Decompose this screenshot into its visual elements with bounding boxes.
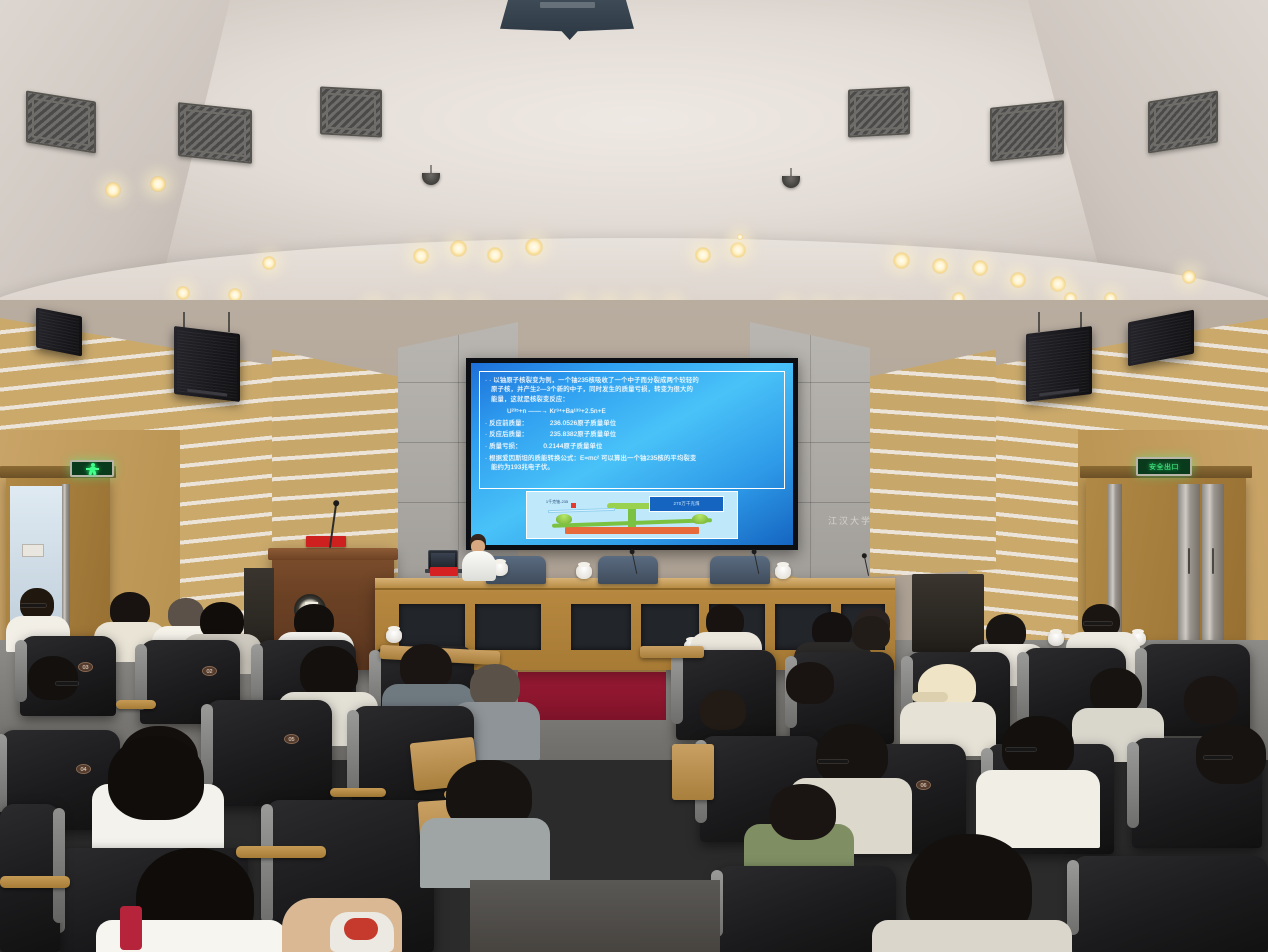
audience-shoulders — [872, 920, 1072, 952]
head-table-nameplate — [430, 567, 458, 576]
ceiling-vent — [178, 102, 252, 164]
mass-before-label: · 反应前质量： — [485, 420, 528, 427]
mass-after-value: 235.8382原子质量单位 — [550, 431, 616, 438]
armrest — [116, 700, 156, 709]
seat-edge — [671, 654, 683, 724]
ceiling-downlight — [893, 252, 910, 269]
balance-pan-left — [556, 514, 572, 524]
audience-head — [852, 616, 890, 650]
audience-head — [28, 656, 78, 700]
slide-einstein-1: · 根据爱因斯坦的质能转换公式：E=mc² 可以算出一个铀235核的平均裂变 — [485, 454, 779, 463]
baseball-cap-brim — [912, 692, 948, 702]
speaker-rod — [1038, 312, 1040, 332]
mass-before-value: 236.0526原子质量单位 — [550, 420, 616, 427]
seat-number-badge: 05 — [284, 734, 299, 744]
side-wall-dark-right — [912, 574, 984, 652]
seat-edge — [1067, 860, 1079, 935]
projection-screen: · 以铀原子核裂变为例，一个铀235核吸收了一个中子而分裂成两个较轻的 原子核，… — [471, 363, 793, 545]
foreground-shoe-accent — [344, 918, 378, 940]
ceiling-downlight — [737, 234, 743, 240]
slide-text-box: · 以铀原子核裂变为例，一个铀235核吸收了一个中子而分裂成两个较轻的 原子核，… — [479, 371, 785, 489]
camera-stem — [430, 165, 432, 173]
mass-defect-value: 0.2144原子质量单位 — [543, 443, 602, 450]
stage-red-carpet — [518, 668, 666, 720]
podium-top — [268, 548, 398, 560]
ceiling-downlight — [1010, 272, 1026, 288]
slide-balance-figure: 1千克铀-235 270万千克煤 — [526, 491, 738, 539]
audience-head — [816, 724, 888, 786]
loudspeaker-right — [1026, 326, 1092, 402]
armrest — [0, 876, 70, 888]
ceiling-vent — [1148, 90, 1218, 153]
balance-pan-right — [692, 514, 708, 524]
mass-after-label: · 反应后质量： — [485, 431, 528, 438]
ceiling-downlight — [730, 242, 746, 258]
ceiling-downlight — [262, 256, 276, 270]
eyeglasses — [1006, 748, 1036, 751]
slide-einstein-2: 能约为193兆电子伏。 — [485, 463, 779, 472]
ceiling-vent — [990, 100, 1064, 162]
auditorium-photo: 江汉大学 · 以铀原子核裂变为例，一个铀235核吸收了一个中子而分裂成两个较轻的… — [0, 0, 1268, 952]
eyeglasses — [20, 604, 46, 607]
flip-desk[interactable] — [672, 744, 714, 800]
ceiling-downlight — [695, 247, 711, 263]
figure-caption-left: 1千克铀-235 — [546, 499, 568, 505]
balance-base — [565, 527, 699, 534]
slide-line-2: 原子核，并产生2—3个新的中子，同时发生的质量亏损，转变为很大的 — [485, 385, 779, 394]
figure-caption-right: 270万千克煤 — [649, 496, 725, 512]
theater-seat[interactable] — [1072, 856, 1268, 952]
armrest — [236, 846, 326, 858]
ceiling-downlight — [1050, 276, 1066, 292]
ceiling-downlight — [1182, 270, 1196, 284]
ceiling-downlight — [487, 247, 503, 263]
balance-tray — [548, 508, 615, 513]
aisle-floor — [470, 880, 720, 952]
slide-equation: U²³⁵+n ——→ Kr⁹⁴+Ba¹³⁹+2.5n+E — [485, 407, 779, 416]
presenter-shirt — [462, 551, 496, 581]
corridor-wall-sign — [22, 544, 44, 557]
seat-edge — [1127, 742, 1139, 828]
table-panel — [571, 604, 631, 650]
door-handle-right[interactable] — [1212, 548, 1214, 574]
slide-line-3: 能量，这就是核裂变反应： — [485, 395, 779, 404]
audience-head — [1196, 724, 1266, 784]
exit-sign-left — [70, 460, 114, 477]
ceiling-downlight — [450, 240, 467, 257]
eyeglasses — [56, 682, 78, 685]
audience-head — [700, 690, 746, 730]
audience-head — [1184, 676, 1238, 724]
seat-edge — [347, 710, 359, 793]
audience-head — [108, 736, 204, 820]
collar-stripe — [120, 906, 142, 950]
tea-cup — [775, 565, 791, 579]
tea-cup — [1048, 632, 1064, 646]
loudspeaker-left — [174, 326, 240, 402]
ceiling-downlight — [413, 248, 429, 264]
eyeglasses — [818, 760, 848, 763]
eyeglasses — [1204, 756, 1232, 759]
laptop-screen — [431, 553, 455, 567]
presenter — [462, 534, 496, 580]
seat-number-badge: 02 — [202, 666, 217, 676]
podium-nameplate — [306, 536, 346, 547]
table-panel — [399, 604, 465, 650]
theater-seat[interactable] — [716, 866, 896, 952]
tea-cup — [576, 565, 592, 579]
seat-edge — [15, 640, 27, 702]
exit-sign-right: 安全出口 — [1136, 457, 1192, 476]
seat-edge — [53, 808, 65, 923]
ceiling-downlight — [150, 176, 166, 192]
mass-defect-label: · 质量亏损： — [485, 443, 522, 450]
ceiling-vent — [848, 86, 910, 137]
tea-cup — [386, 629, 402, 643]
slide-line-1: · 以铀原子核裂变为例，一个铀235核吸收了一个中子而分裂成两个较轻的 — [485, 376, 779, 385]
seat-number-badge: 03 — [78, 662, 93, 672]
audience-head — [1002, 716, 1074, 778]
stage-chair — [710, 556, 770, 584]
audience-shoulders — [420, 818, 550, 888]
camera-stem — [790, 168, 792, 176]
table-panel — [475, 604, 541, 650]
uranium-cube — [571, 503, 576, 508]
ceiling-vent — [320, 86, 382, 137]
wall-text-right: 江汉大学 — [828, 514, 872, 527]
seat-edge — [1017, 652, 1029, 724]
audience-head — [786, 662, 834, 704]
flip-desk[interactable] — [640, 646, 704, 658]
seat-number-badge: 06 — [916, 780, 931, 790]
seat-edge — [261, 804, 273, 923]
ceiling-vent — [26, 90, 96, 153]
speaker-rod — [228, 312, 230, 332]
ceiling-downlight — [525, 238, 543, 256]
running-man-icon — [86, 463, 99, 475]
ceiling-downlight — [176, 286, 190, 300]
ceiling-downlight — [932, 258, 948, 274]
audience-shoulders — [976, 770, 1100, 848]
audience-head — [770, 784, 836, 840]
ceiling-downlight — [972, 260, 988, 276]
eyeglasses — [1084, 622, 1112, 625]
stage-chair — [598, 556, 658, 584]
seat-edge — [0, 734, 7, 812]
ceiling-downlight — [105, 182, 121, 198]
armrest — [330, 788, 386, 797]
projector-brand-label — [540, 2, 595, 8]
theater-seat[interactable]: 05 — [206, 700, 332, 806]
projection-screen-frame: · 以铀原子核裂变为例，一个铀235核吸收了一个中子而分裂成两个较轻的 原子核，… — [466, 358, 798, 550]
seat-number-badge: 04 — [76, 764, 91, 774]
audience-head — [300, 646, 358, 698]
door-handle-left[interactable] — [1188, 548, 1190, 574]
exit-sign-right-text: 安全出口 — [1149, 462, 1179, 472]
